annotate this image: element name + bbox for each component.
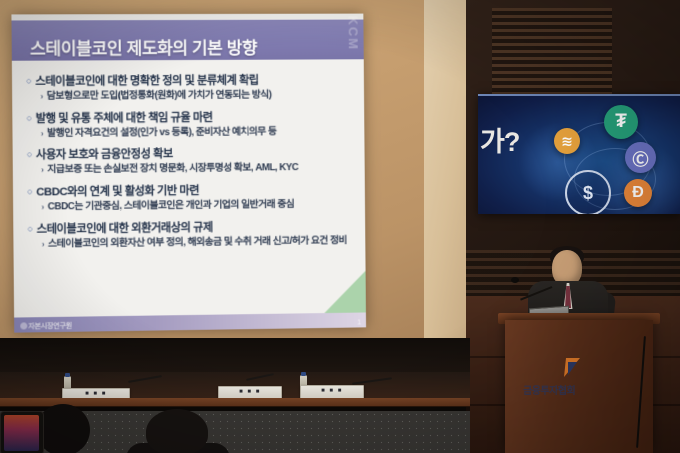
nameplate-right-text: ■ ■ ■ (301, 388, 363, 394)
chevron-right-icon: › (40, 91, 42, 103)
bullet-group-3: ○ 사용자 보호와 금융안정성 확보 › 지급보증 또는 손실보전 장치 명문화… (27, 146, 351, 177)
usdc-coin-icon: Ⓒ (625, 142, 656, 173)
chevron-right-icon: › (41, 202, 43, 214)
banner-partial-text: 가? (480, 120, 519, 159)
bullet-sub-text-4: CBDC는 기관중심, 스테이블코인은 개인과 기업의 일반거래 중심 (48, 199, 295, 214)
bullet-main-text-1: 스테이블코인에 대한 명확한 정의 및 분류체계 확립 (35, 74, 258, 89)
slide-corner-accent (324, 271, 366, 313)
stage-shadow-strip (0, 338, 470, 374)
bullet-main-3: ○ 사용자 보호와 금융안정성 확보 (27, 146, 351, 163)
bullet-circle-icon: ○ (27, 186, 32, 199)
bottle-cap (301, 372, 306, 376)
bullet-circle-icon: ○ (26, 112, 31, 125)
bullet-main-5: ○ 스테이블코인에 대한 외환거래상의 규제 (27, 219, 351, 237)
nameplate-center-text: ■ ■ ■ (219, 389, 281, 395)
dollar-ring-coin-icon: $ (565, 170, 611, 214)
bullet-main-text-3: 사용자 보호와 금융안정성 확보 (36, 148, 173, 163)
bullet-group-1: ○ 스테이블코인에 대한 명확한 정의 및 분류체계 확립 › 담보형으로만 도… (26, 73, 350, 103)
slide-title-bar: 스테이블코인 제도화의 기본 방향 KCM (11, 20, 363, 61)
kcmi-watermark: KCM (346, 16, 360, 51)
bullet-main-text-5: 스테이블코인에 대한 외환거래상의 규제 (37, 221, 213, 237)
conference-photo-stage: 스테이블코인 제도화의 기본 방향 KCM ○ 스테이블코인에 대한 명확한 정… (0, 0, 680, 453)
wood-slat-panel (492, 8, 612, 100)
bullet-circle-icon: ○ (26, 75, 31, 88)
slide-page-number: 1 (357, 319, 361, 326)
bullet-group-4: ○ CBDC와의 연계 및 활성화 기반 마련 › CBDC는 기관중심, 스테… (27, 183, 351, 215)
bullet-main-text-4: CBDC와의 연계 및 활성화 기반 마련 (36, 184, 199, 200)
binance-coin-icon: ≋ (554, 128, 580, 154)
bullet-circle-icon: ○ (27, 223, 32, 236)
bullet-sub-4: › CBDC는 기관중심, 스테이블코인은 개인과 기업의 일반거래 중심 (41, 199, 351, 215)
smartphone-screen (4, 415, 39, 451)
chevron-right-icon: › (41, 128, 43, 140)
bullet-main-1: ○ 스테이블코인에 대한 명확한 정의 및 분류체계 확립 (26, 73, 350, 89)
slide-body: ○ 스테이블코인에 대한 명확한 정의 및 분류체계 확립 › 담보형으로만 도… (12, 63, 366, 314)
bullet-main-text-2: 발행 및 유통 주체에 대한 책임 규율 마련 (36, 111, 213, 126)
bullet-sub-text-5: 스테이블코인의 외환자산 여부 정의, 해외송금 및 수취 거래 신고/허가 요… (48, 235, 347, 251)
footer-organization: 자본시장연구원 (28, 321, 72, 332)
bullet-sub-2: › 발행인 자격요건의 설정(인가 vs 등록), 준비자산 예치의무 등 (41, 126, 351, 141)
podium: 금융투자협회 (505, 320, 653, 453)
smartphone (0, 411, 44, 453)
audience-head-left (36, 404, 90, 453)
bullet-group-5: ○ 스테이블코인에 대한 외환거래상의 규제 › 스테이블코인의 외환자산 여부… (27, 219, 351, 251)
audience-head-center (146, 409, 208, 453)
slide-title: 스테이블코인 제도화의 기본 방향 (30, 34, 257, 60)
kofia-arrow-logo-inner-icon (568, 362, 577, 375)
bullet-main-4: ○ CBDC와의 연계 및 활성화 기반 마련 (27, 183, 351, 200)
microphone-head-icon (511, 277, 519, 283)
podium-organization-label: 금융투자협회 (523, 382, 575, 397)
bullet-sub-text-2: 발행인 자격요건의 설정(인가 vs 등록), 준비자산 예치의무 등 (47, 126, 277, 140)
bullet-sub-3: › 지급보증 또는 손실보전 장치 명문화, 시장투명성 확보, AML, KY… (41, 162, 351, 177)
presentation-slide: 스테이블코인 제도화의 기본 방향 KCM ○ 스테이블코인에 대한 명확한 정… (11, 14, 366, 333)
chevron-right-icon: › (41, 165, 43, 177)
bullet-sub-text-3: 지급보증 또는 손실보전 장치 명문화, 시장투명성 확보, AML, KYC (47, 163, 298, 178)
nameplate-left-text: ■ ■ ■ (63, 391, 129, 397)
bullet-main-2: ○ 발행 및 유통 주체에 대한 책임 규율 마련 (26, 110, 350, 126)
bullet-sub-1: › 담보형으로만 도입(법정통화(원화)에 가치가 연동되는 방식) (40, 89, 350, 104)
tether-usdt-coin-icon: ₮ (604, 105, 638, 139)
footer-logo-icon (20, 322, 27, 329)
bullet-sub-text-1: 담보형으로만 도입(법정통화(원화)에 가치가 연동되는 방식) (47, 90, 272, 104)
dai-coin-icon: Ɖ (624, 179, 652, 207)
bullet-sub-5: › 스테이블코인의 외환자산 여부 정의, 해외송금 및 수취 거래 신고/허가… (42, 235, 352, 251)
bullet-group-2: ○ 발행 및 유통 주체에 대한 책임 규율 마련 › 발행인 자격요건의 설정… (26, 110, 350, 141)
chevron-right-icon: › (42, 239, 44, 251)
bottle-cap (65, 373, 70, 377)
secondary-screen-banner: 가? ₮ ≋ Ⓒ Ɖ $ (478, 94, 680, 214)
bullet-circle-icon: ○ (27, 149, 32, 162)
